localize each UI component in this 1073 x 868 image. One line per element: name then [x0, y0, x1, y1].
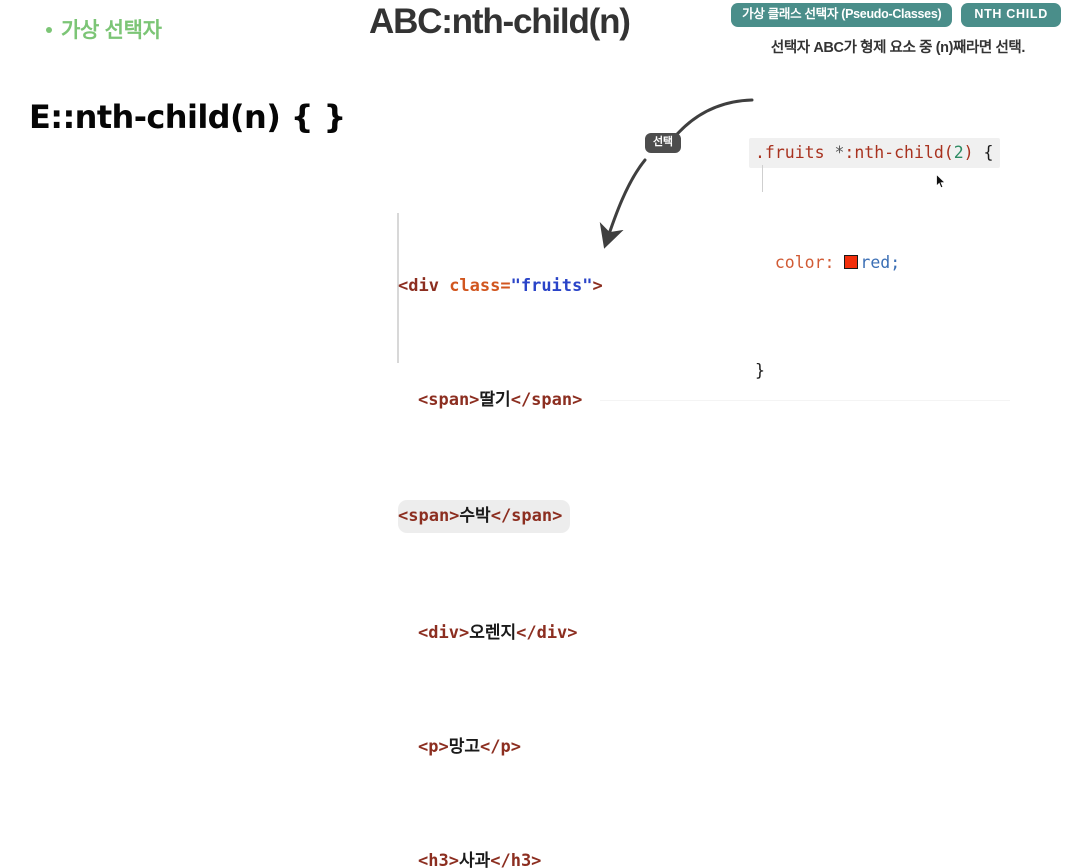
css-token-universal: * [834, 143, 844, 162]
html-code-line: <span>딸기</span> [398, 386, 603, 415]
css-code-line: } [755, 357, 1000, 384]
html-token-tag: <span> [418, 390, 479, 410]
css-token-open-brace: { [974, 143, 994, 162]
html-code-line: <p>망고</p> [398, 733, 603, 762]
css-token-paren: ) [964, 143, 974, 162]
html-token-tag-close: </p> [480, 737, 521, 757]
html-token-text: 딸기 [479, 390, 510, 410]
badge-description: 선택자 ABC가 형제 요소 중 (n)째라면 선택. [771, 36, 1025, 57]
html-code-line-highlighted: <span>수박</span> [398, 500, 603, 534]
html-code-line: <h3>사과</h3> [398, 847, 603, 868]
html-code-block: <div class="fruits"> <span>딸기</span> <sp… [398, 186, 603, 868]
html-token-string: "fruits" [511, 276, 593, 296]
css-token-close-brace: } [755, 361, 765, 380]
mouse-pointer-icon [936, 174, 947, 190]
css-token-number: 2 [954, 143, 964, 162]
color-swatch-icon [844, 255, 858, 269]
html-token-attr: class= [449, 276, 510, 296]
html-code-line: <div>오렌지</div> [398, 619, 603, 648]
html-token-text: 사과 [459, 851, 490, 868]
html-token-text: 망고 [449, 737, 480, 757]
css-code-line: color: red; [755, 249, 1000, 276]
html-token-tag-close: > [593, 276, 603, 296]
page-title: ABC:nth-child(n) [369, 2, 630, 42]
badge-row: 가상 클래스 선택자 (Pseudo-Classes) NTH CHILD [731, 3, 1061, 27]
html-token-tag-close: </div> [516, 623, 577, 643]
divider [600, 400, 1010, 401]
css-token-selector: .fruits [755, 143, 834, 162]
html-token-tag: <span> [398, 506, 459, 526]
css-token-value: red [860, 253, 890, 272]
status-badge-pseudo-classes: 가상 클래스 선택자 (Pseudo-Classes) [731, 3, 952, 27]
html-code-line: <div class="fruits"> [398, 272, 603, 301]
html-token-tag: <div [398, 276, 449, 296]
syntax-pattern-text: E::nth-child(n) { } [29, 98, 346, 136]
bullet-heading-label: 가상 선택자 [61, 14, 162, 44]
annotation-arrow-label: 선택 [645, 133, 681, 153]
status-badge-nth-child: NTH CHILD [961, 3, 1061, 27]
indent-guide [762, 165, 763, 192]
html-token-tag-close: </span> [491, 506, 563, 526]
html-token-tag-close: </span> [511, 390, 583, 410]
html-token-tag-close: </h3> [490, 851, 541, 868]
html-token-text: 수박 [459, 506, 490, 526]
html-token-tag: <div> [418, 623, 469, 643]
css-code-block: .fruits *:nth-child(2) { color: red; } [755, 84, 1000, 411]
css-token-property: color: [755, 253, 844, 272]
css-token-pseudo: :nth-child( [844, 143, 953, 162]
bullet-heading: 가상 선택자 [46, 14, 162, 44]
bullet-dot-icon [46, 27, 52, 33]
html-token-text: 오렌지 [469, 623, 516, 643]
html-token-tag: <p> [418, 737, 449, 757]
css-token-semicolon: ; [890, 253, 900, 272]
css-code-line: .fruits *:nth-child(2) { [755, 138, 1000, 168]
html-token-tag: <h3> [418, 851, 459, 868]
